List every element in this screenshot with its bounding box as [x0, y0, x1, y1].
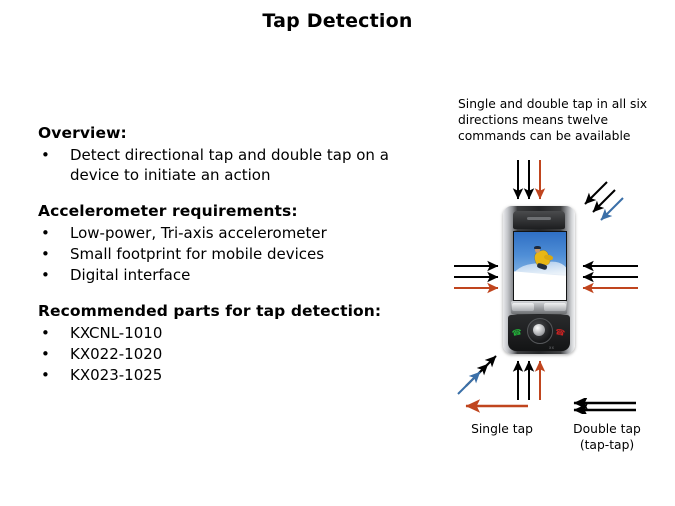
section-heading-overview: Overview: [38, 124, 438, 142]
bullet-icon: • [41, 223, 50, 243]
section-heading-recommended-parts: Recommended parts for tap detection: [38, 302, 438, 320]
phone-dpad-center-button [533, 324, 545, 336]
phone-earpiece-panel [513, 211, 565, 229]
single-tap-arrow-icon [452, 398, 552, 414]
legend: Single tap Double tap (tap-tap) [440, 398, 675, 468]
section-overview: Overview: • Detect directional tap and d… [38, 124, 438, 185]
bullet-icon: • [41, 323, 50, 343]
double-tap-arrow-icon [552, 398, 662, 414]
lower-left-diagonal-arrows [458, 356, 496, 394]
list-item-label: Small footprint for mobile devices [70, 245, 324, 263]
list-item-label: Low-power, Tri-axis accelerometer [70, 224, 327, 242]
legend-item-double-tap: Double tap (tap-tap) [552, 398, 662, 453]
phone-end-key-icon: ☎ [554, 329, 566, 337]
bullet-icon: • [41, 344, 50, 364]
bullet-list-accelerometer-requirements: • Low-power, Tri-axis accelerometer • Sm… [38, 223, 438, 285]
content-column: Overview: • Detect directional tap and d… [38, 124, 438, 386]
list-item: • KXCNL-1010 [38, 323, 438, 343]
list-item-label: Digital interface [70, 266, 190, 284]
section-accelerometer-requirements: Accelerometer requirements: • Low-power,… [38, 202, 438, 285]
bullet-icon: • [41, 365, 50, 385]
list-item: • KX022-1020 [38, 344, 438, 364]
top-arrows [518, 160, 540, 199]
list-item: • Low-power, Tri-axis accelerometer [38, 223, 438, 243]
page-title: Tap Detection [0, 10, 675, 32]
diagram-caption: Single and double tap in all six directi… [458, 96, 673, 144]
list-item-label: KX023-1025 [70, 366, 162, 384]
screen-photo-snow-lower [513, 271, 567, 301]
phone-left-softkey [512, 303, 534, 311]
list-item-label: KXCNL-1010 [70, 324, 162, 342]
mobile-phone-graphic: ☎ ☎ xx [503, 206, 575, 354]
bullet-icon: • [41, 145, 50, 165]
legend-label-single-tap: Single tap [452, 422, 552, 437]
legend-item-single-tap: Single tap [452, 398, 552, 437]
list-item: • Detect directional tap and double tap … [38, 145, 438, 185]
phone-call-key-icon: ☎ [511, 329, 523, 337]
bullet-list-overview: • Detect directional tap and double tap … [38, 145, 438, 185]
upper-right-diagonal-arrows [585, 182, 623, 220]
phone-screen [513, 231, 567, 301]
list-item-label: Detect directional tap and double tap on… [70, 146, 389, 184]
list-item: • KX023-1025 [38, 365, 438, 385]
bullet-icon: • [41, 244, 50, 264]
legend-sublabel-double-tap: (tap-tap) [552, 438, 662, 453]
bullet-icon: • [41, 265, 50, 285]
section-recommended-parts: Recommended parts for tap detection: • K… [38, 302, 438, 385]
section-heading-accelerometer-requirements: Accelerometer requirements: [38, 202, 438, 220]
legend-label-double-tap: Double tap [552, 422, 662, 437]
bottom-arrows [518, 361, 540, 400]
phone-brand-mark: xx [549, 345, 554, 350]
phone-speaker-grille [527, 217, 551, 220]
left-arrows [454, 266, 498, 288]
right-arrows [583, 266, 638, 288]
list-item: • Small footprint for mobile devices [38, 244, 438, 264]
phone-right-softkey [544, 303, 566, 311]
screen-photo-snowboarder-hat [534, 246, 540, 249]
list-item: • Digital interface [38, 265, 438, 285]
bullet-list-recommended-parts: • KXCNL-1010 • KX022-1020 • KX023-1025 [38, 323, 438, 385]
list-item-label: KX022-1020 [70, 345, 162, 363]
